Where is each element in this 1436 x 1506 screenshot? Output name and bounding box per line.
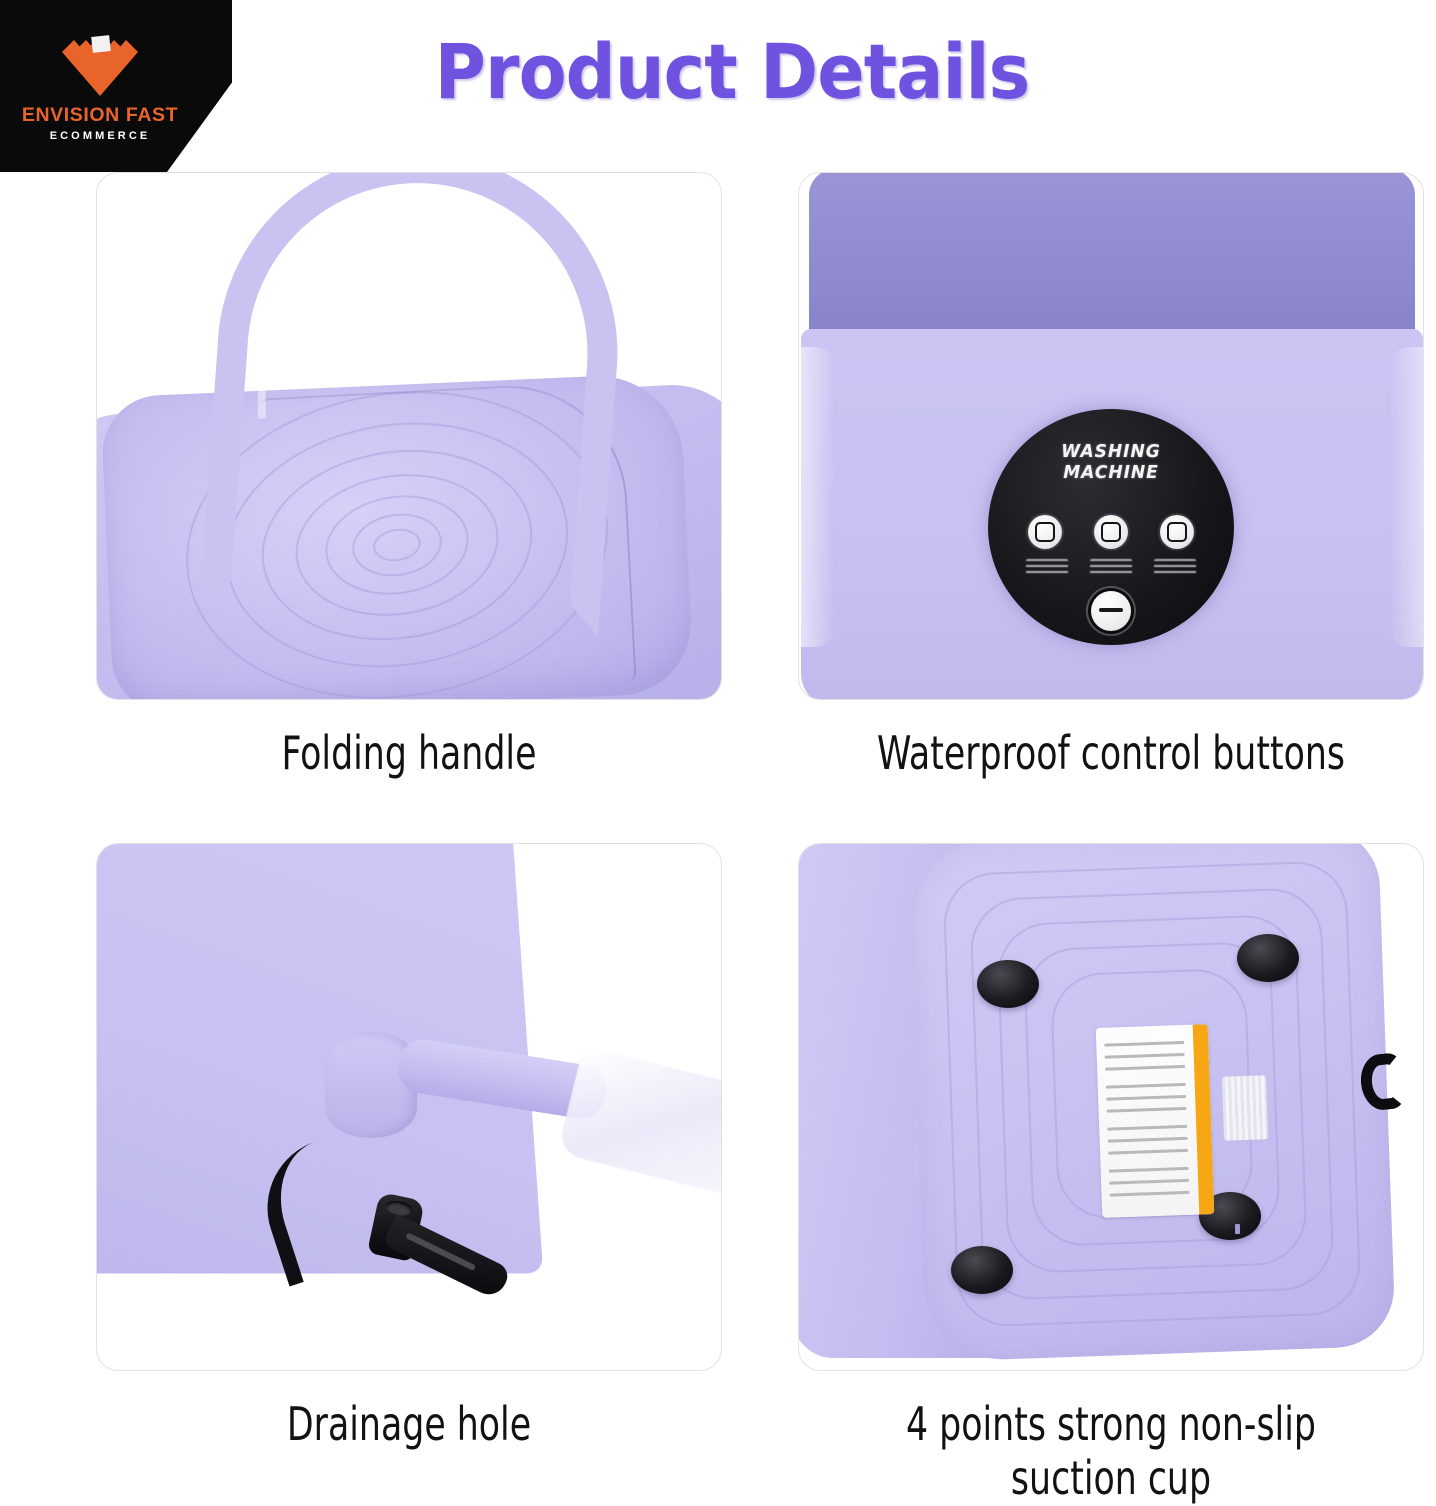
wash-mode-button[interactable]	[1028, 515, 1062, 549]
brand-name: ENVISION FAST	[22, 106, 178, 126]
feature-panel-folding-handle: Folding handle	[96, 172, 722, 780]
envision-chevron-logo-icon	[56, 22, 144, 100]
control-panel: WASHING MACHINE	[988, 409, 1234, 645]
control-button-labels	[988, 559, 1234, 575]
timer-mode-button[interactable]	[1160, 515, 1194, 549]
page-title: Product Details	[272, 34, 1192, 110]
spin-icon	[1101, 522, 1121, 542]
button-label-text	[1154, 559, 1196, 575]
panel-caption-folding-handle: Folding handle	[146, 726, 672, 780]
control-panel-brand-text: WASHING MACHINE	[994, 441, 1228, 483]
suction-cup	[951, 1246, 1013, 1294]
label-barcode	[1222, 1075, 1268, 1140]
feature-panel-control-buttons: WASHING MACHINE Waterproof control butto…	[798, 172, 1424, 780]
panel-caption-control-buttons: Waterproof control buttons	[848, 726, 1374, 780]
feature-panel-suction-cups: 4 points strong non-slip suction cup	[798, 843, 1424, 1506]
product-photo-control-buttons: WASHING MACHINE	[798, 172, 1424, 700]
timer-icon	[1167, 522, 1187, 542]
button-label-text	[1090, 559, 1132, 575]
product-label	[1096, 1024, 1215, 1218]
panel-caption-suction-cups: 4 points strong non-slip suction cup	[848, 1397, 1374, 1506]
power-button[interactable]	[1091, 591, 1131, 631]
water-stream	[557, 1046, 722, 1208]
control-panel-brand-line1: WASHING	[994, 441, 1228, 462]
suction-cup	[977, 960, 1039, 1008]
base-vent-slot	[1235, 1224, 1240, 1234]
brand-subtitle: ECOMMERCE	[50, 131, 151, 142]
product-photo-suction-cups	[798, 843, 1424, 1371]
product-photo-folding-handle	[96, 172, 722, 700]
feature-grid: Folding handle WASHING MACHINE	[0, 0, 1436, 1500]
spin-mode-button[interactable]	[1094, 515, 1128, 549]
wash-icon	[1035, 522, 1055, 542]
product-photo-drainage-hole	[96, 843, 722, 1371]
panel-caption-drainage-hole: Drainage hole	[146, 1397, 672, 1451]
control-panel-brand-line2: MACHINE	[994, 462, 1228, 483]
control-button-row	[988, 515, 1234, 549]
machine-lid	[809, 172, 1415, 341]
brand-badge-inner: ENVISION FAST ECOMMERCE	[0, 6, 200, 166]
folding-handle	[199, 172, 631, 636]
suction-cup	[1237, 934, 1299, 982]
button-label-text	[1026, 559, 1068, 575]
feature-panel-drainage-hole: Drainage hole	[96, 843, 722, 1451]
